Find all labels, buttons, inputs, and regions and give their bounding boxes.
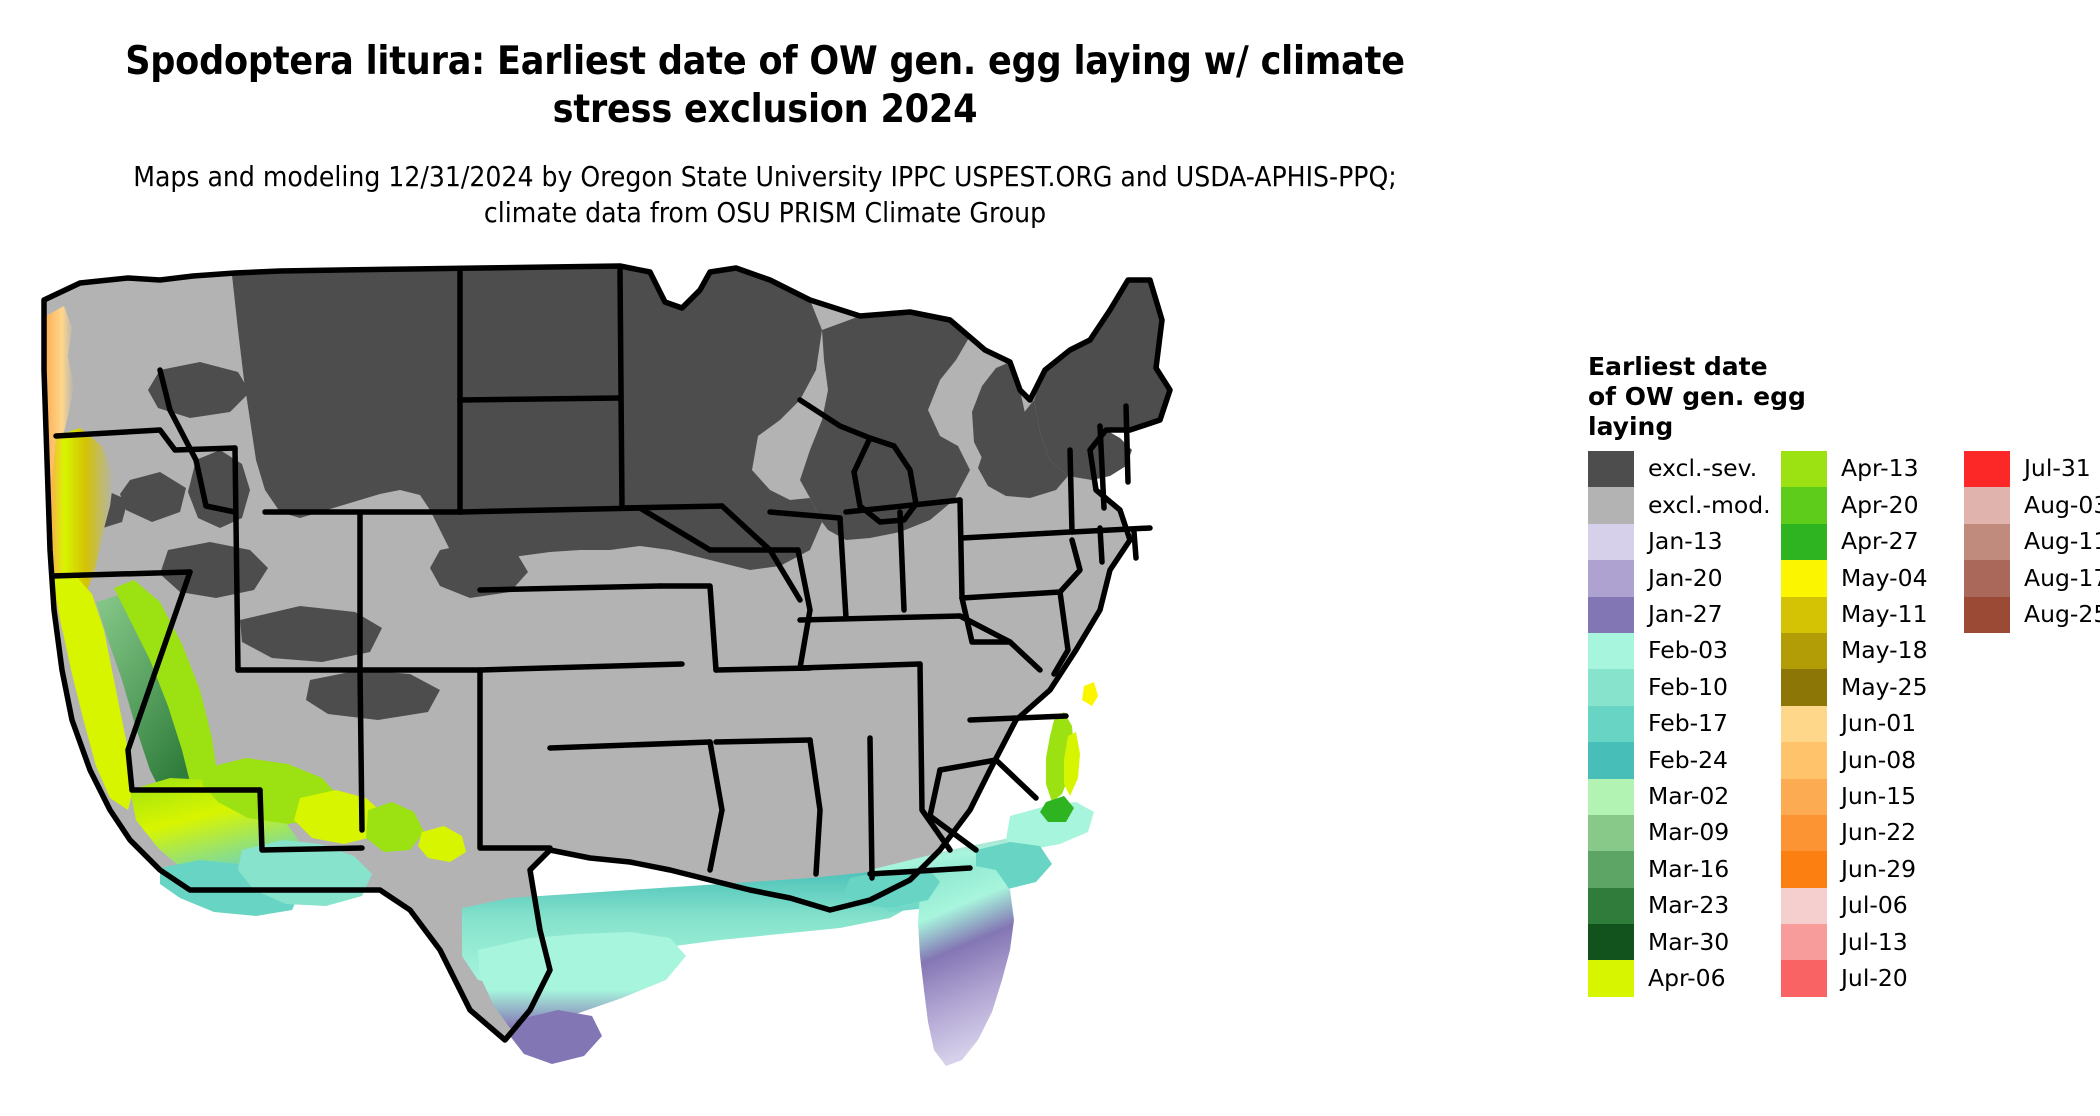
legend-item-label: Jan-20	[1648, 567, 1776, 591]
legend-item-label: Mar-02	[1648, 785, 1776, 809]
legend-swatch	[1964, 451, 2010, 487]
legend-item-label: Jul-20	[1841, 967, 1959, 991]
bdr-ct-ny	[1100, 528, 1102, 562]
bdr-ms-al	[870, 738, 872, 878]
legend-item[interactable]: Jul-06	[1781, 888, 1959, 924]
legend-swatch	[1588, 597, 1634, 633]
legend-title: Earliest date of OW gen. egg laying	[1588, 352, 2088, 442]
legend-item-label: Mar-16	[1648, 858, 1776, 882]
legend-swatch	[1588, 779, 1634, 815]
legend-column-3: Jul-31 Aug-03 Aug-11 Aug-17 Aug-25	[1964, 451, 2100, 633]
legend-item[interactable]: Apr-20	[1781, 487, 1959, 523]
legend-column-1: excl.-sev. excl.-mod. Jan-13 Jan-20 Jan-…	[1588, 451, 1776, 997]
legend-item-label: Feb-10	[1648, 676, 1776, 700]
legend-item-label: Jun-29	[1841, 858, 1959, 882]
legend-item-label: Jul-31	[2024, 457, 2100, 481]
legend-swatch	[1964, 560, 2010, 596]
legend-item-label: excl.-mod.	[1648, 494, 1776, 518]
legend-item-label: Feb-17	[1648, 712, 1776, 736]
legend-swatch	[1781, 924, 1827, 960]
legend-swatch	[1781, 779, 1827, 815]
legend-item-label: Apr-13	[1841, 457, 1959, 481]
legend-item[interactable]: Jan-20	[1588, 560, 1776, 596]
map-legend: Earliest date of OW gen. egg laying excl…	[1588, 352, 2088, 997]
florida-layer	[844, 864, 1014, 1066]
map-figure: Spodoptera litura: Earliest date of OW g…	[0, 0, 2100, 1116]
legend-item[interactable]: May-11	[1781, 597, 1959, 633]
legend-column-2: Apr-13 Apr-20 Apr-27 May-04 May-11 May-1…	[1781, 451, 1959, 997]
legend-swatch	[1588, 487, 1634, 523]
legend-swatch	[1588, 924, 1634, 960]
map-container	[10, 250, 1570, 1080]
legend-item[interactable]: May-18	[1781, 633, 1959, 669]
legend-item-label: Jul-06	[1841, 894, 1959, 918]
legend-item[interactable]: Mar-16	[1588, 851, 1776, 887]
bdr-ny-vt	[1070, 450, 1072, 532]
legend-swatch	[1781, 706, 1827, 742]
legend-item[interactable]: Jan-27	[1588, 597, 1776, 633]
texas-gulf-plain	[478, 932, 686, 1028]
legend-item[interactable]: Feb-10	[1588, 669, 1776, 705]
legend-item-label: May-25	[1841, 676, 1959, 700]
bdr-ct-ri	[1134, 532, 1136, 558]
legend-item[interactable]: Jun-15	[1781, 779, 1959, 815]
legend-item-label: Aug-03	[2024, 494, 2100, 518]
legend-item-label: Apr-27	[1841, 530, 1959, 554]
legend-item-label: Aug-17	[2024, 567, 2100, 591]
legend-item[interactable]: Jun-08	[1781, 742, 1959, 778]
legend-item[interactable]: Aug-03	[1964, 487, 2100, 523]
legend-item[interactable]: Feb-03	[1588, 633, 1776, 669]
legend-item-label: Jan-13	[1648, 530, 1776, 554]
legend-item[interactable]: Jan-13	[1588, 524, 1776, 560]
bdr-nv-ut	[235, 448, 238, 670]
legend-swatch	[1781, 597, 1827, 633]
legend-swatch	[1964, 597, 2010, 633]
legend-swatch	[1781, 524, 1827, 560]
legend-item-label: Jun-08	[1841, 749, 1959, 773]
legend-item[interactable]: May-04	[1781, 560, 1959, 596]
legend-swatch	[1588, 706, 1634, 742]
legend-item-label: Apr-20	[1841, 494, 1959, 518]
bdr-oh-pa	[960, 500, 962, 598]
legend-swatch	[1588, 560, 1634, 596]
legend-item-label: May-04	[1841, 567, 1959, 591]
conus-map	[10, 250, 1570, 1080]
legend-item[interactable]: excl.-mod.	[1588, 487, 1776, 523]
legend-swatch	[1588, 633, 1634, 669]
legend-swatch	[1781, 451, 1827, 487]
legend-item-label: Aug-25	[2024, 603, 2100, 627]
legend-item[interactable]: May-25	[1781, 669, 1959, 705]
legend-item[interactable]: Aug-25	[1964, 597, 2100, 633]
legend-swatch	[1588, 815, 1634, 851]
legend-item-label: Mar-09	[1648, 821, 1776, 845]
legend-item-label: Jun-22	[1841, 821, 1959, 845]
legend-item-label: Jun-01	[1841, 712, 1959, 736]
legend-swatch	[1781, 888, 1827, 924]
legend-swatch	[1781, 669, 1827, 705]
legend-item[interactable]: Jul-20	[1781, 960, 1959, 996]
legend-item[interactable]: Feb-24	[1588, 742, 1776, 778]
legend-swatch	[1588, 888, 1634, 924]
legend-swatch	[1781, 633, 1827, 669]
legend-item[interactable]: excl.-sev.	[1588, 451, 1776, 487]
legend-item[interactable]: Mar-23	[1588, 888, 1776, 924]
legend-item[interactable]: Jun-01	[1781, 706, 1959, 742]
legend-item[interactable]: Jul-13	[1781, 924, 1959, 960]
title-block: Spodoptera litura: Earliest date of OW g…	[0, 38, 1530, 231]
bdr-mo-ar	[716, 668, 810, 670]
legend-item-label: Mar-30	[1648, 931, 1776, 955]
legend-item[interactable]: Jun-29	[1781, 851, 1959, 887]
legend-swatch	[1588, 960, 1634, 996]
legend-swatch	[1781, 851, 1827, 887]
legend-swatch	[1781, 560, 1827, 596]
legend-swatch	[1781, 960, 1827, 996]
bdr-mn-ia	[622, 506, 722, 508]
legend-swatch	[1781, 815, 1827, 851]
delaware-bay-spot	[1082, 682, 1098, 706]
legend-item-label: May-11	[1841, 603, 1959, 627]
bdr-ar-la	[716, 740, 810, 742]
florida-peninsula	[918, 864, 1014, 1066]
legend-item[interactable]: Mar-30	[1588, 924, 1776, 960]
legend-item-label: Jan-27	[1648, 603, 1776, 627]
bdr-dakota-mn	[620, 270, 622, 508]
legend-swatch	[1781, 487, 1827, 523]
legend-item-label: May-18	[1841, 639, 1959, 663]
legend-item[interactable]: Apr-27	[1781, 524, 1959, 560]
legend-swatch	[1588, 742, 1634, 778]
legend-item-label: Jul-13	[1841, 931, 1959, 955]
legend-item-label: Apr-06	[1648, 967, 1776, 991]
legend-swatch	[1588, 451, 1634, 487]
legend-item[interactable]: Aug-17	[1964, 560, 2100, 596]
legend-columns: excl.-sev. excl.-mod. Jan-13 Jan-20 Jan-…	[1588, 451, 2088, 997]
page-subtitle: Maps and modeling 12/31/2024 by Oregon S…	[0, 159, 1530, 231]
legend-item-label: excl.-sev.	[1648, 457, 1776, 481]
legend-swatch	[1964, 524, 2010, 560]
legend-item[interactable]: Jul-31	[1964, 451, 2100, 487]
legend-item[interactable]: Apr-13	[1781, 451, 1959, 487]
mid-atlantic-layer	[1040, 682, 1098, 822]
legend-item[interactable]: Aug-11	[1964, 524, 2100, 560]
legend-swatch	[1588, 851, 1634, 887]
bdr-nh-me	[1126, 406, 1128, 482]
legend-item[interactable]: Mar-09	[1588, 815, 1776, 851]
bdr-nd-sd	[460, 398, 620, 400]
legend-swatch	[1588, 669, 1634, 705]
legend-swatch	[1781, 742, 1827, 778]
legend-item[interactable]: Mar-02	[1588, 779, 1776, 815]
page-title: Spodoptera litura: Earliest date of OW g…	[0, 38, 1530, 133]
legend-item-label: Aug-11	[2024, 530, 2100, 554]
legend-swatch	[1964, 487, 2010, 523]
legend-swatch	[1588, 524, 1634, 560]
legend-item-label: Feb-24	[1648, 749, 1776, 773]
legend-item[interactable]: Jun-22	[1781, 815, 1959, 851]
legend-item-label: Feb-03	[1648, 639, 1776, 663]
legend-item-label: Mar-23	[1648, 894, 1776, 918]
legend-item[interactable]: Apr-06	[1588, 960, 1776, 996]
bdr-az-nm	[360, 670, 362, 830]
legend-item[interactable]: Feb-17	[1588, 706, 1776, 742]
legend-item-label: Jun-15	[1841, 785, 1959, 809]
